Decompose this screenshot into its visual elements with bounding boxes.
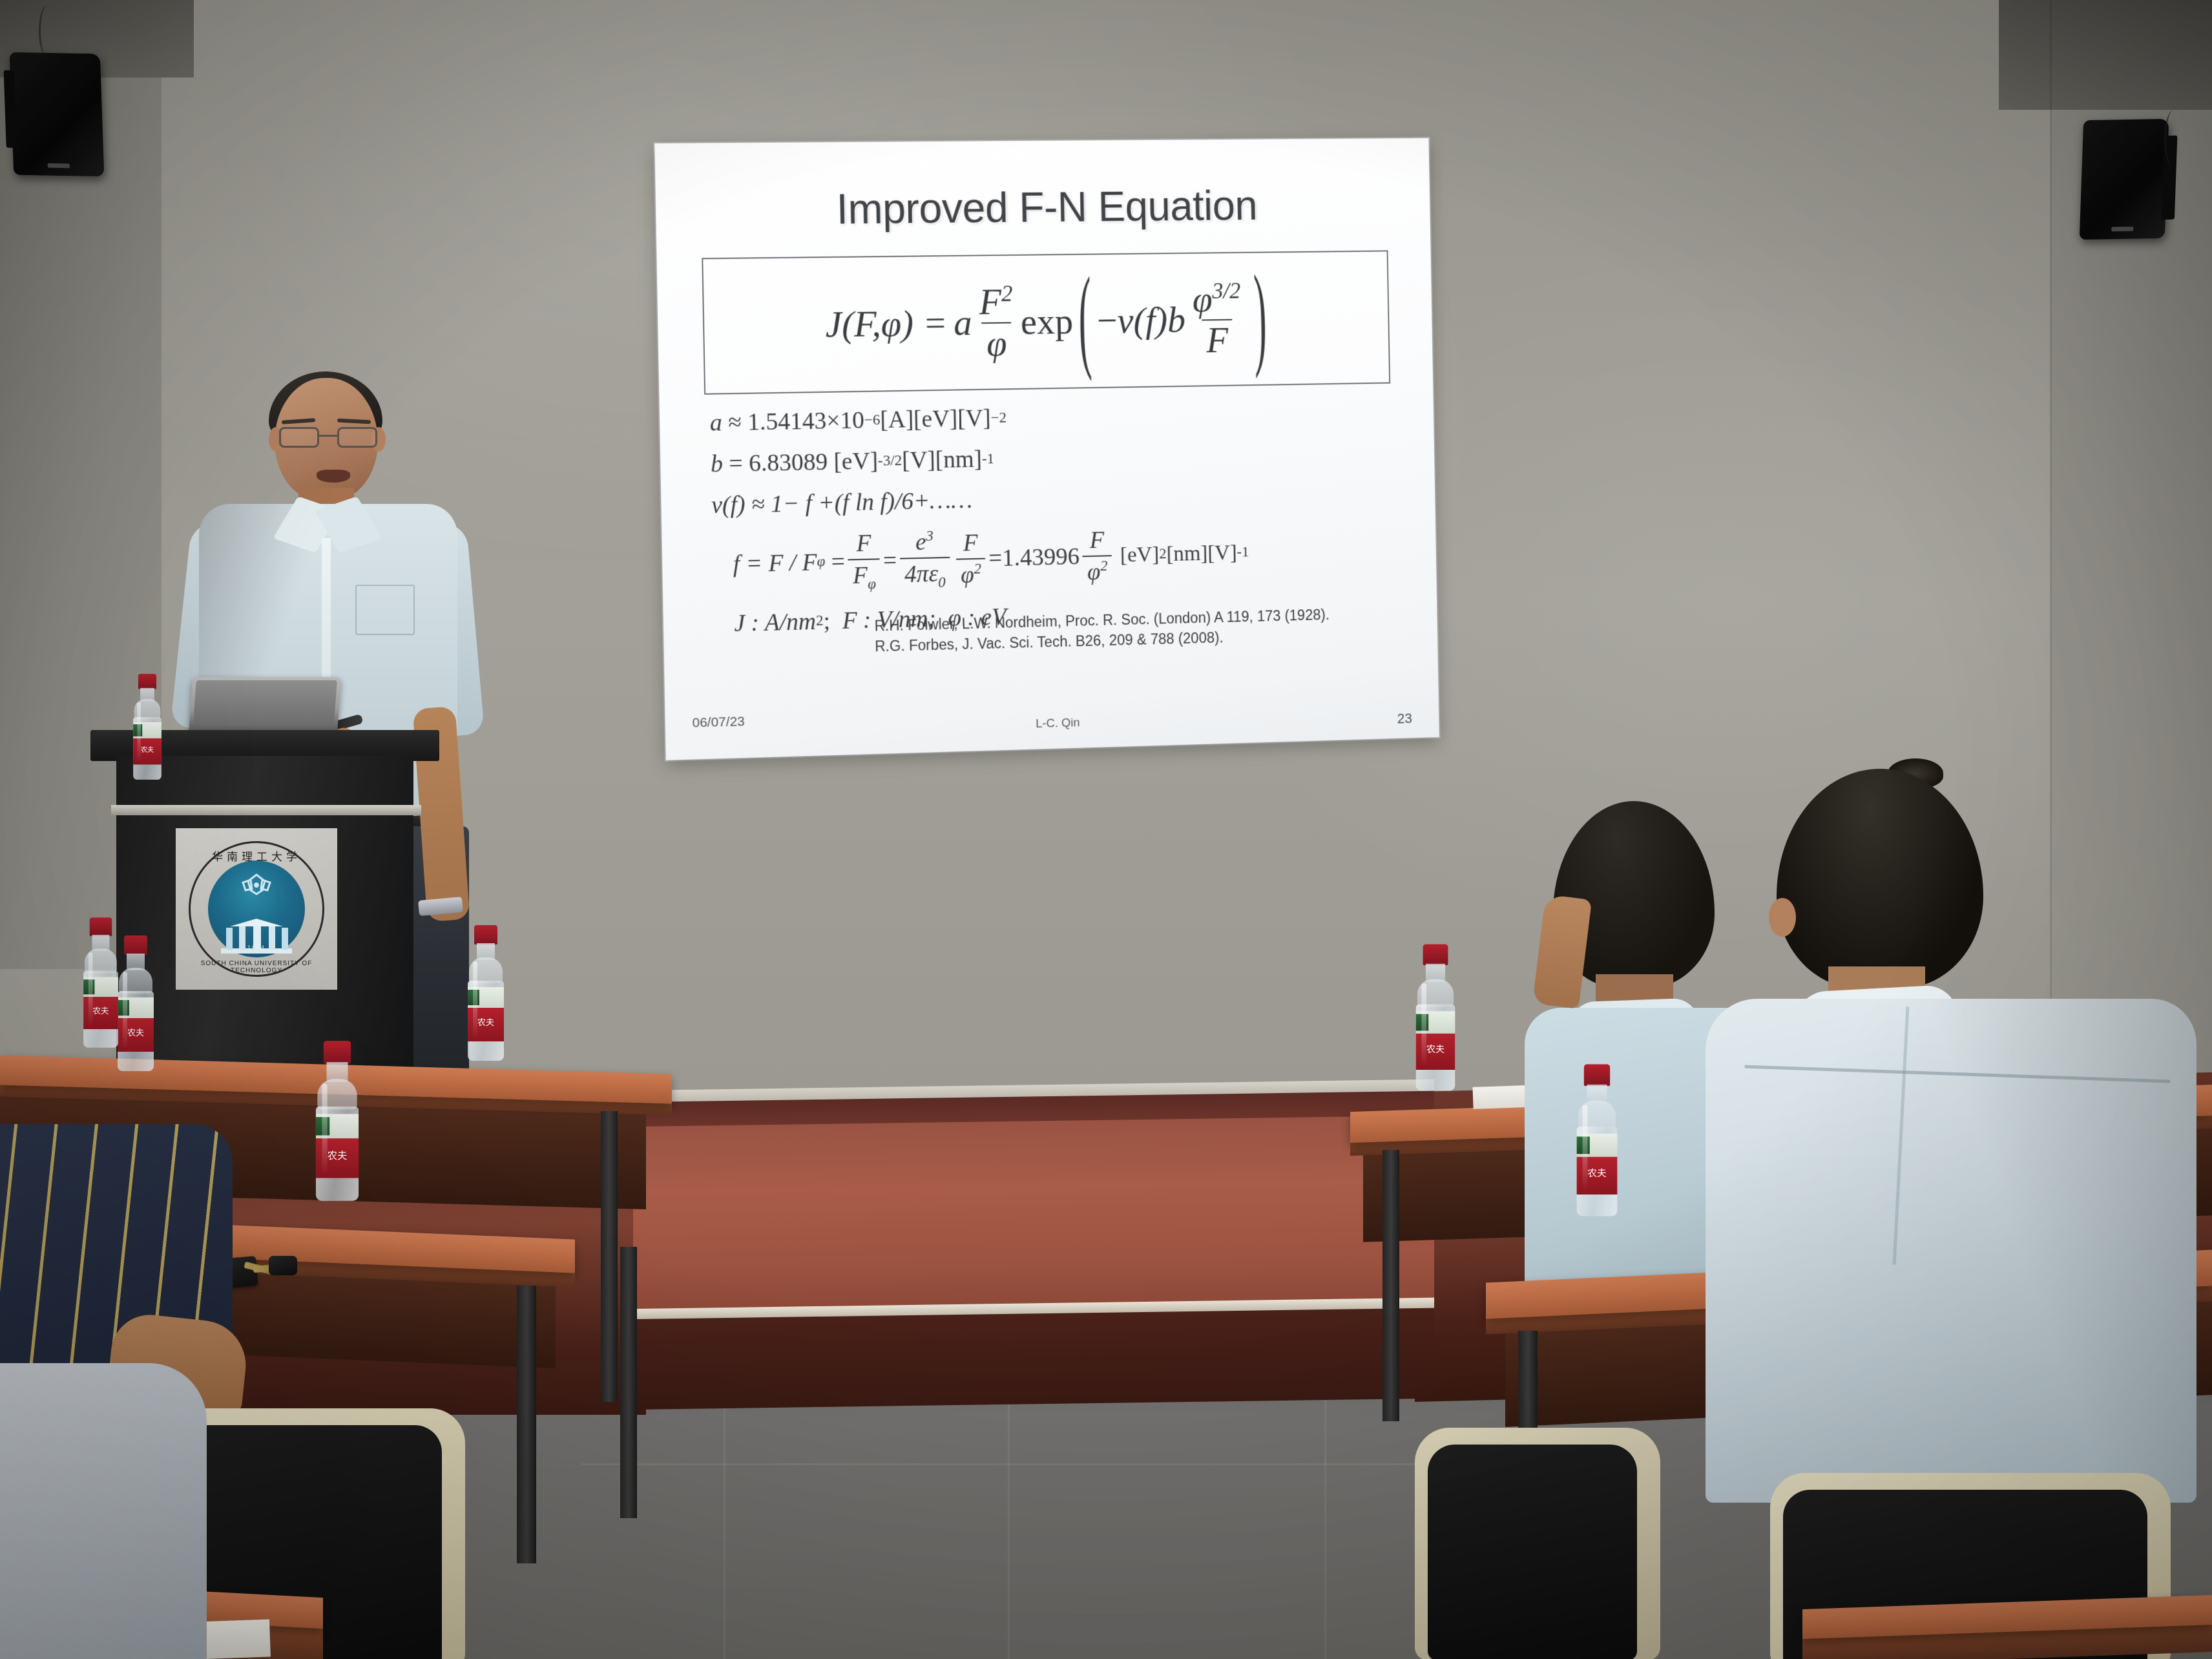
f-fraction-4: F φ2 [1082,526,1112,586]
audience-hand [1532,894,1592,1009]
university-emblem-icon: 华南理工大学 1934 SOUTH CHINA UNIVERSITY OF TE… [189,841,324,977]
slide-title: Improved F-N Equation [677,180,1409,235]
table-leg [517,1286,536,1563]
slide-page-number: 23 [1397,710,1413,727]
equation-fraction-1: F2 φ [974,283,1018,362]
emblem-year: 1934 [189,944,324,951]
wainscot-panel [633,1116,1434,1314]
exp-label: exp [1020,303,1073,340]
glasses-lens [279,427,319,448]
water-bottle[interactable]: 农夫 [313,1041,362,1201]
fraction-denominator: φ [982,322,1012,362]
bottle-highlight [89,952,93,1027]
equation-lhs: J(F,φ) = [825,304,948,343]
wainscot-base [633,1308,1434,1410]
exp-v-term: v(f) [1117,302,1167,339]
water-bottle[interactable]: 农夫 [115,935,156,1071]
glasses-bridge [319,435,337,437]
fraction-numerator: F2 [974,283,1017,322]
key-fob-icon [269,1256,297,1275]
param-b: b = 6.83089 [eV]-3/2 [V][nm]-1 [711,437,1414,479]
fraction-denominator: F [1202,319,1233,359]
laptop-screen [193,680,337,724]
water-bottle[interactable]: 农夫 [1413,944,1457,1091]
speaker-badge [2111,227,2133,232]
water-bottle[interactable]: 农夫 [1574,1064,1620,1216]
table-leg [1382,1150,1399,1421]
bottle-highlight [137,702,140,763]
bottle-cap [474,925,497,944]
f-equation: f = F / Fφ = F Fφ = e3 4πε0 F [733,517,1416,596]
param-v: v(f) ≈ 1− f +(f ln f)/6+…… [711,477,1415,520]
bottle-cap [324,1041,351,1063]
audience-shirt [0,1363,207,1659]
fraction-numerator: φ3/2 [1188,280,1246,319]
emblem-chinese-name: 华南理工大学 [189,848,324,864]
water-bottle[interactable]: 农夫 [465,925,506,1061]
f-fraction-3: F φ2 [955,528,986,589]
loudspeaker-icon [2080,119,2169,240]
audience-member-2 [1706,769,2196,1499]
floor-tile-line [581,1463,1486,1465]
ceiling-corner-right [1999,0,2212,110]
speaker-cable [39,5,56,57]
bottle-highlight [1583,1105,1588,1191]
emblem-english-name: SOUTH CHINA UNIVERSITY OF TECHNOLOGY [189,960,324,974]
presenter-mouth [317,470,350,483]
podium-plaque: 华南理工大学 1934 SOUTH CHINA UNIVERSITY OF TE… [176,828,337,990]
main-equation-box: J(F,φ) = a F2 φ exp ( − v(f) b φ3/2 [702,250,1390,394]
water-bottle[interactable]: 农夫 [81,917,120,1048]
chair[interactable] [1415,1428,1660,1659]
table-leg [620,1247,637,1518]
glasses-lens [337,427,377,448]
bottle-cap [138,674,156,689]
bottle-highlight [123,972,127,1049]
main-equation: J(F,φ) = a F2 φ exp ( − v(f) b φ3/2 [824,280,1273,364]
audience-ear [1769,898,1796,937]
bottle-highlight [1421,983,1426,1067]
speaker-cable [2164,110,2184,168]
podium-lip [111,805,421,815]
slide-author: L-C. Qin [665,705,1439,742]
audience-member-4 [0,1363,220,1659]
keyring[interactable] [239,1253,317,1279]
bottle-cap [90,917,112,936]
glasses-icon [279,427,377,449]
bottle-highlight [322,1083,327,1175]
water-bottle[interactable]: 农夫 [131,674,163,780]
speaker-badge [48,163,70,169]
bottle-cap [1423,944,1448,965]
speaker-bracket [4,70,17,148]
left-paren-icon: ( [1078,263,1092,379]
bottle-cap [124,935,147,955]
right-paren-icon: ) [1253,261,1268,377]
equation-fraction-2: φ3/2 F [1188,280,1246,359]
presenter-shirt-pocket [355,585,415,635]
chair-seat-back [1428,1445,1637,1659]
param-a: a ≈ 1.54143 × 10−6 [A][eV][V]−2 [709,397,1413,437]
bottle-highlight [473,961,477,1039]
f-fraction-1: F Fφ [848,529,881,594]
emblem-flower-icon [236,872,276,903]
presentation-slide: Improved F-N Equation J(F,φ) = a F2 φ ex… [654,138,1439,760]
exp-sign: − [1096,302,1118,339]
exp-b-term: b [1167,301,1185,338]
laptop[interactable] [189,677,341,735]
f-fraction-2: e3 4πε0 [899,527,950,592]
projection-screen: Improved F-N Equation J(F,φ) = a F2 φ ex… [660,143,1459,760]
parameter-list: a ≈ 1.54143 × 10−6 [A][eV][V]−2 b = 6.83… [709,397,1416,638]
audience-hair [1777,769,1983,988]
equation-coefficient: a [954,304,972,342]
table-leg [601,1111,618,1402]
bottle-cap [1584,1064,1610,1086]
loudspeaker-icon [10,52,105,176]
lecture-hall-scene: Improved F-N Equation J(F,φ) = a F2 φ ex… [0,0,2212,1659]
